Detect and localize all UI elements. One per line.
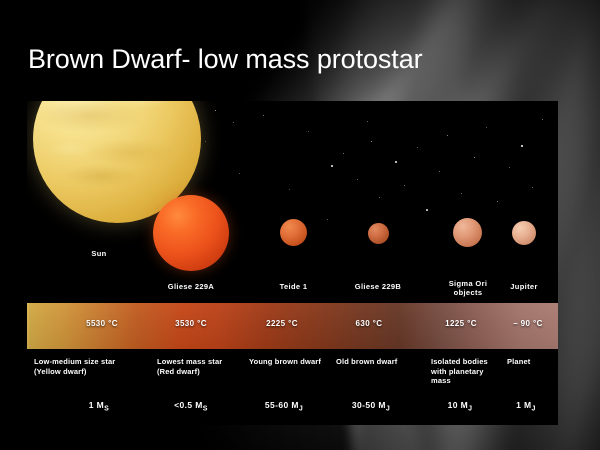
star-speck — [327, 219, 328, 220]
celestial-body-jupiter — [512, 221, 536, 245]
star-speck — [426, 209, 428, 211]
mass-teide-1: 55-60 MJ — [246, 400, 322, 413]
star-speck — [379, 197, 380, 198]
mass-jupiter-subscript: J — [532, 406, 536, 413]
temperature-sun: 5530 °C — [69, 319, 135, 328]
mass-sun-subscript: S — [104, 406, 109, 413]
label-gliese-229a: Gliese 229A — [151, 282, 231, 291]
temperature-sigma-ori: 1225 °C — [430, 319, 492, 328]
star-speck — [215, 110, 216, 111]
mass-sun-value: 1 M — [89, 400, 104, 410]
mass-gliese-229a-value: <0.5 M — [174, 400, 203, 410]
description-gliese-229a-line1: Lowest mass star — [157, 357, 222, 366]
mass-jupiter: 1 MJ — [499, 400, 553, 413]
gliese-229a-surface-texture — [153, 195, 229, 271]
star-speck — [367, 121, 368, 122]
mass-sigma-ori-value: 10 M — [448, 400, 469, 410]
star-speck — [239, 173, 240, 174]
label-sigma-ori-line2: objects — [454, 288, 483, 297]
presentation-slide: Brown Dwarf- low mass protostar — [0, 0, 600, 450]
mass-gliese-229b: 30-50 MJ — [333, 400, 409, 413]
star-speck — [417, 147, 418, 148]
star-speck — [497, 201, 498, 202]
mass-sun: 1 MS — [69, 400, 129, 413]
mass-teide-1-subscript: J — [299, 406, 303, 413]
label-sigma-ori-line1: Sigma Ori — [449, 279, 488, 288]
description-sigma-ori-line1: Isolated bodies — [431, 357, 488, 366]
temperature-gradient-bar: 5530 °C 3530 °C 2225 °C 630 °C 1225 °C –… — [27, 303, 558, 349]
description-sigma-ori-line2: with planetary — [431, 367, 484, 376]
celestial-body-teide-1 — [280, 219, 307, 246]
description-teide-1: Young brown dwarf — [249, 357, 339, 367]
description-sigma-ori-line3: mass — [431, 376, 451, 385]
star-speck — [542, 119, 543, 120]
star-speck — [371, 141, 372, 142]
temperature-jupiter: – 90 °C — [499, 319, 557, 328]
label-sigma-ori-objects: Sigma Ori objects — [433, 279, 503, 297]
label-gliese-229b: Gliese 229B — [338, 282, 418, 291]
description-gliese-229a: Lowest mass star (Red dwarf) — [157, 357, 257, 376]
star-speck — [404, 185, 405, 186]
star-speck — [439, 171, 440, 172]
celestial-body-gliese-229a — [153, 195, 229, 271]
star-speck — [357, 179, 358, 180]
star-speck — [308, 131, 309, 132]
mass-gliese-229b-value: 30-50 M — [352, 400, 386, 410]
star-speck — [205, 141, 206, 142]
star-speck — [447, 135, 448, 136]
celestial-body-gliese-229b — [368, 223, 389, 244]
starfield-sky: Sun Gliese 229A Teide 1 Gliese 229B Sigm… — [27, 101, 558, 303]
description-sun-line2: (Yellow dwarf) — [34, 367, 87, 376]
star-speck — [461, 193, 462, 194]
mass-jupiter-value: 1 M — [516, 400, 531, 410]
description-gliese-229a-line2: (Red dwarf) — [157, 367, 200, 376]
description-sun-line1: Low-medium size star — [34, 357, 115, 366]
mass-teide-1-value: 55-60 M — [265, 400, 299, 410]
star-speck — [509, 167, 510, 168]
description-jupiter: Planet — [507, 357, 555, 367]
star-speck — [263, 115, 264, 116]
star-speck — [289, 189, 290, 190]
label-jupiter: Jupiter — [495, 282, 553, 291]
comparison-figure-image: Sun Gliese 229A Teide 1 Gliese 229B Sigm… — [27, 101, 558, 425]
mass-gliese-229b-subscript: J — [386, 406, 390, 413]
temperature-gliese-229b: 630 °C — [338, 319, 400, 328]
mass-gliese-229a-subscript: S — [203, 406, 208, 413]
label-teide-1: Teide 1 — [261, 282, 326, 291]
star-speck — [343, 153, 344, 154]
mass-sigma-ori: 10 MJ — [431, 400, 489, 413]
temperature-teide-1: 2225 °C — [249, 319, 315, 328]
mass-sigma-ori-subscript: J — [468, 406, 472, 413]
star-speck — [486, 127, 487, 128]
mass-gliese-229a: <0.5 MS — [155, 400, 227, 413]
description-gliese-229b: Old brown dwarf — [336, 357, 428, 367]
star-speck — [521, 145, 523, 147]
description-sun: Low-medium size star (Yellow dwarf) — [34, 357, 156, 376]
star-speck — [532, 187, 533, 188]
star-speck — [395, 161, 397, 163]
star-speck — [331, 165, 333, 167]
description-sigma-ori: Isolated bodies with planetary mass — [431, 357, 503, 386]
celestial-body-sigma-ori-objects — [453, 218, 482, 247]
slide-title: Brown Dwarf- low mass protostar — [28, 44, 423, 75]
description-and-mass-rows: Low-medium size star (Yellow dwarf) Lowe… — [27, 349, 558, 425]
star-speck — [233, 122, 234, 123]
temperature-gliese-229a: 3530 °C — [158, 319, 224, 328]
label-sun: Sun — [69, 249, 129, 258]
star-speck — [474, 157, 475, 158]
